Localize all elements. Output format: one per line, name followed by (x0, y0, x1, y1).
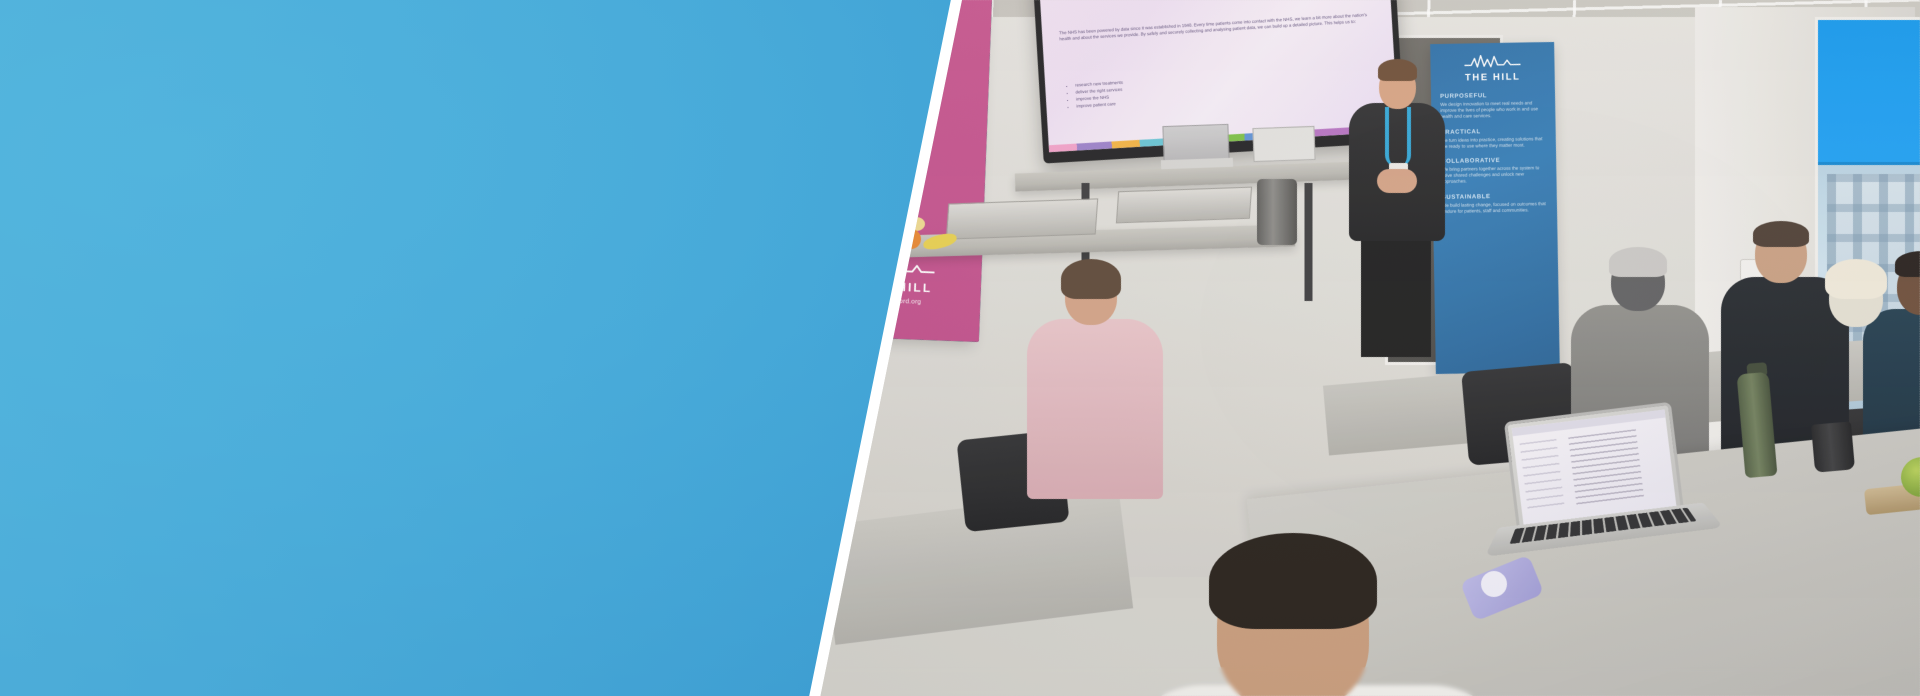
slide-bullet: improve patient care (1076, 100, 1124, 110)
coffee-cup (1811, 421, 1855, 472)
the-hill-banner-blue: THE HILL PURPOSEFUL We design innovation… (1430, 42, 1560, 374)
banner-paragraph-heading: SUSTAINABLE (1442, 193, 1548, 201)
slide-paragraph-2: The NHS has been powered by data since i… (1059, 12, 1376, 43)
banner-paragraph-body: We bring partners together across the sy… (1441, 165, 1547, 185)
catering-tray (1116, 187, 1252, 224)
presenter-lanyard (1385, 107, 1411, 167)
pulse-icon (1464, 53, 1520, 70)
audience-member-hair (1825, 259, 1887, 299)
av-monitor (1252, 126, 1315, 162)
banner-paragraph-heading: PRACTICAL (1441, 128, 1547, 136)
audience-member-hair (1609, 247, 1667, 277)
banner-paragraph-body: We build lasting change, focused on outc… (1442, 201, 1548, 215)
slide-bullets: research new treatments deliver the righ… (1075, 79, 1124, 110)
foreground-person-hair (1209, 533, 1377, 629)
banner-paragraph-body: We design innovation to meet real needs … (1440, 100, 1546, 120)
window-blind (1818, 20, 1920, 165)
presenter-hair (1378, 59, 1417, 81)
audience-member-hair (1061, 259, 1121, 299)
photo-frame: MAA2024 – Thames Valley SDE Across the T… (797, 0, 1920, 696)
banner-paragraph: COLLABORATIVE We bring partners together… (1441, 157, 1547, 185)
banner-paragraph: PURPOSEFUL We design innovation to meet … (1440, 92, 1546, 120)
banner-paragraph-heading: PURPOSEFUL (1440, 92, 1546, 100)
the-hill-logo: THE HILL (1439, 52, 1546, 84)
macbook-laptop (1486, 399, 1714, 583)
coffee-urn (1257, 179, 1297, 245)
banner-paragraph: SUSTAINABLE We build lasting change, foc… (1442, 193, 1548, 215)
photo-clip: MAA2024 – Thames Valley SDE Across the T… (810, 0, 1920, 696)
the-hill-logo-text: THE HILL (1440, 71, 1546, 84)
banner-paragraph: PRACTICAL We turn ideas into practice, c… (1441, 128, 1547, 150)
laptop-sidebar (1520, 439, 1565, 512)
banner-paragraph-heading: COLLABORATIVE (1441, 157, 1547, 165)
hero-banner: MAA2024 – Thames Valley SDE Across the T… (0, 0, 1920, 696)
orange-fruit (901, 229, 921, 249)
audience-member-body (1027, 319, 1163, 499)
laptop-document-rows (1569, 429, 1645, 505)
av-laptop-lid (1162, 124, 1229, 162)
presenter-legs (1361, 237, 1431, 357)
banner-paragraph-body: We turn ideas into practice, creating so… (1441, 136, 1547, 150)
photo-scene: MAA2024 – Thames Valley SDE Across the T… (810, 0, 1920, 696)
slide-paragraph-1: Across the Thames Valley and Surrey NHS … (1056, 0, 1373, 1)
presenter-hands (1377, 169, 1417, 193)
catering-tray (946, 198, 1098, 239)
audience-member-hair (1753, 221, 1809, 247)
food-item (907, 217, 925, 231)
